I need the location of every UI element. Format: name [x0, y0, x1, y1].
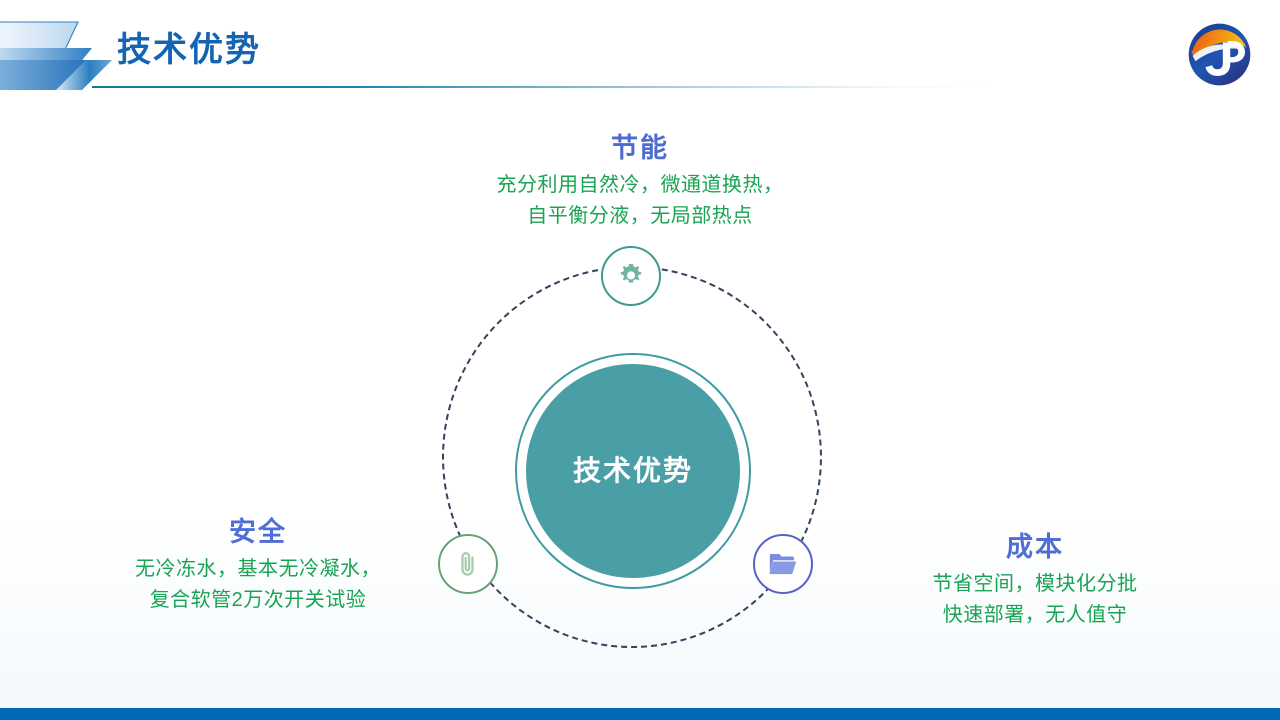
node-energy[interactable] [601, 246, 661, 306]
section-cost: 成本 节省空间，模块化分批 快速部署，无人值守 [800, 533, 1270, 631]
section-safety: 安全 无冷冻水，基本无冷凝水， 复合软管2万次开关试验 [18, 518, 498, 616]
section-safety-title: 安全 [18, 518, 498, 548]
company-logo [1186, 21, 1253, 88]
page-title: 技术优势 [117, 33, 261, 67]
section-energy: 节能 充分利用自然冷，微通道换热， 自平衡分液，无局部热点 [340, 134, 940, 232]
folder-icon [767, 550, 799, 578]
section-energy-body: 充分利用自然冷，微通道换热， 自平衡分液，无局部热点 [340, 170, 940, 232]
header-divider [92, 86, 992, 88]
gear-icon [616, 261, 646, 291]
core-circle: 技术优势 [526, 364, 740, 578]
section-cost-title: 成本 [800, 533, 1270, 563]
footer-bar [0, 708, 1280, 720]
section-cost-body: 节省空间，模块化分批 快速部署，无人值守 [800, 569, 1270, 631]
core-label: 技术优势 [573, 457, 693, 485]
slide: 技术优势 [0, 0, 1280, 720]
section-energy-title: 节能 [340, 134, 940, 164]
section-safety-body: 无冷冻水，基本无冷凝水， 复合软管2万次开关试验 [18, 554, 498, 616]
slide-header: 技术优势 [0, 0, 1280, 95]
